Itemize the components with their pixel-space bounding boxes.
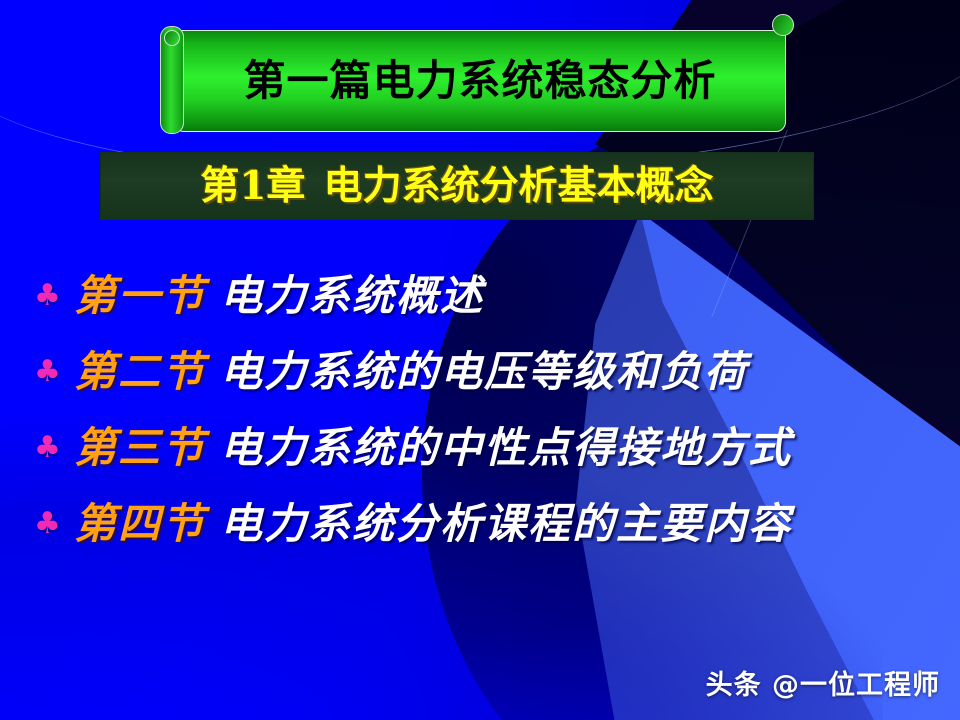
list-item[interactable]: ♣ 第一节 电力系统概述 xyxy=(34,258,934,334)
club-suit-icon: ♣ xyxy=(34,509,74,539)
club-suit-icon: ♣ xyxy=(34,433,74,463)
part-banner: 第一篇电力系统稳态分析 xyxy=(160,12,800,134)
chapter-bar-text: 第1章电力系统分析基本概念 xyxy=(200,167,713,206)
list-item[interactable]: ♣ 第四节 电力系统分析课程的主要内容 xyxy=(34,486,934,562)
list-item[interactable]: ♣ 第二节 电力系统的电压等级和负荷 xyxy=(34,334,934,410)
section-label: 第一节 xyxy=(74,275,206,317)
scroll-curl-left-icon xyxy=(160,26,184,134)
section-list: ♣ 第一节 电力系统概述 ♣ 第二节 电力系统的电压等级和负荷 ♣ 第三节 电力… xyxy=(34,258,934,562)
scroll-curl-right-icon xyxy=(772,14,794,36)
section-label: 第四节 xyxy=(74,503,206,545)
club-suit-icon: ♣ xyxy=(34,357,74,387)
chapter-number: 第1章 xyxy=(200,163,305,209)
section-title: 电力系统分析课程的主要内容 xyxy=(220,503,792,545)
part-banner-title: 第一篇电力系统稳态分析 xyxy=(243,60,716,102)
section-title: 电力系统的电压等级和负荷 xyxy=(220,351,748,393)
section-title: 电力系统的中性点得接地方式 xyxy=(220,427,792,469)
section-title: 电力系统概述 xyxy=(220,275,484,317)
list-item[interactable]: ♣ 第三节 电力系统的中性点得接地方式 xyxy=(34,410,934,486)
chapter-bar: 第1章电力系统分析基本概念 xyxy=(100,152,814,220)
chapter-title: 电力系统分析基本概念 xyxy=(324,163,714,209)
club-suit-icon: ♣ xyxy=(34,281,74,311)
part-banner-body: 第一篇电力系统稳态分析 xyxy=(174,30,786,132)
watermark: 头条 @一位工程师 xyxy=(706,663,940,702)
section-label: 第三节 xyxy=(74,427,206,469)
slide-canvas: 第一篇电力系统稳态分析 第1章电力系统分析基本概念 ♣ 第一节 电力系统概述 ♣… xyxy=(0,0,960,720)
section-label: 第二节 xyxy=(74,351,206,393)
